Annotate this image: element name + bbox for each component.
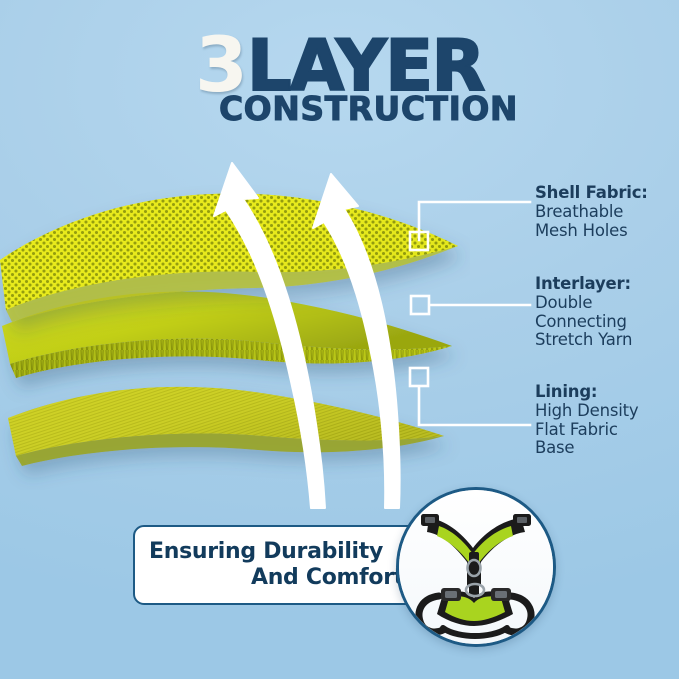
title-subtitle: CONSTRUCTION	[0, 92, 679, 125]
callout-label-lining: Lining: High Density Flat Fabric Base	[535, 383, 639, 458]
callout-label-shell-fabric: Shell Fabric: Breathable Mesh Holes	[535, 184, 648, 240]
title-number: 3	[195, 34, 245, 96]
callout-body-line: Base	[535, 439, 639, 458]
callout-heading: Shell Fabric:	[535, 184, 648, 203]
callout-body-line: Stretch Yarn	[535, 331, 632, 350]
callout-heading: Lining:	[535, 383, 639, 402]
callout-heading: Interlayer:	[535, 275, 632, 294]
layer-stack	[0, 150, 470, 490]
callout-body-line: Flat Fabric	[535, 421, 639, 440]
title-word-layer: LAYER	[247, 36, 484, 96]
page-title: 3 LAYER CONSTRUCTION	[0, 34, 679, 125]
dog-harness-photo	[396, 487, 556, 647]
harness-illustration	[399, 490, 553, 644]
infographic-canvas: 3 LAYER CONSTRUCTION	[0, 0, 679, 679]
callout-body-line: Mesh Holes	[535, 222, 648, 241]
tagline-line-1: Ensuring Durability	[149, 539, 404, 565]
callout-label-interlayer: Interlayer: Double Connecting Stretch Ya…	[535, 275, 632, 350]
callout-body-line: High Density	[535, 402, 639, 421]
tagline-banner: Ensuring Durability And Comfort	[133, 525, 428, 605]
callout-body-line: Connecting	[535, 313, 632, 332]
tagline-line-2: And Comfort	[149, 565, 404, 591]
callout-body-line: Double	[535, 294, 632, 313]
callout-body-line: Breathable	[535, 203, 648, 222]
title-main-row: 3 LAYER	[195, 34, 484, 96]
lining-layer	[8, 387, 444, 466]
